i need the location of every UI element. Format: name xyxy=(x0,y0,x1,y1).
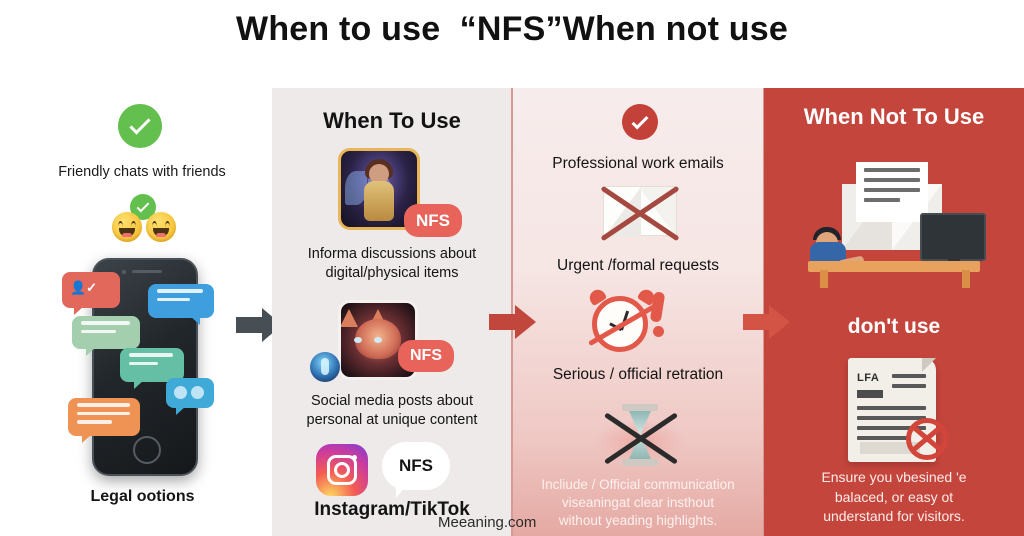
cross-out-icon xyxy=(598,405,684,467)
person-check-glyph: 👤✓ xyxy=(70,280,97,296)
when-to-use-caption-2: Social media posts about personal at uni… xyxy=(272,392,512,430)
phone-camera-dot xyxy=(122,270,126,274)
laughing-emoji-icon xyxy=(146,212,176,242)
check-tick xyxy=(129,113,150,134)
contact-bubble-icon: 👤✓ xyxy=(62,272,120,308)
monitor-icon xyxy=(920,213,986,261)
desk-leg xyxy=(962,270,970,288)
smiley-glyph xyxy=(191,386,204,399)
legal-options-caption: Legal ootions xyxy=(40,487,245,507)
green-check-icon xyxy=(118,104,162,148)
desk-surface xyxy=(808,261,980,272)
smiley-glyph xyxy=(174,386,187,399)
urgent-formal-requests-label: Urgent /formal requests xyxy=(512,257,764,275)
laughing-emoji-icon xyxy=(112,212,142,242)
dont-use-subheading: don't use xyxy=(764,315,1024,339)
character-torso xyxy=(364,181,394,221)
page-title: When to use “NFS”When not use xyxy=(0,10,1024,49)
instagram-icon xyxy=(316,444,368,496)
cross-out-icon xyxy=(584,292,662,352)
phone-speaker xyxy=(132,270,162,273)
desk-leg xyxy=(820,270,828,288)
blue-orb-icon xyxy=(310,352,340,382)
red-check-icon xyxy=(622,104,658,140)
when-not-to-use-heading: When Not To Use xyxy=(764,104,1024,130)
red-panel-footnote: Ensure you vbesined 'e balaced, or easy … xyxy=(768,468,1020,527)
message-bubble-green xyxy=(72,316,140,349)
watermark-label: Meeaning.com xyxy=(438,514,536,531)
person-at-desk-with-envelope-icon xyxy=(800,158,990,288)
document-sheet xyxy=(856,162,928,222)
nfs-speech-bubble: NFS xyxy=(382,442,450,490)
message-bubble-teal xyxy=(120,348,184,382)
serious-official-label: Serious / official retration xyxy=(512,366,764,384)
infographic-canvas: When to use “NFS”When not use Friendly c… xyxy=(0,0,1024,536)
professional-work-emails-label: Professional work emails xyxy=(512,155,764,173)
arrow-right-icon xyxy=(489,305,537,339)
phone-home-button xyxy=(133,436,161,464)
check-tick xyxy=(137,200,150,213)
friendly-chats-label: Friendly chats with friends xyxy=(22,163,262,181)
middle-panel-footnote: Incliude / Official communication visean… xyxy=(508,476,768,531)
nfs-badge: NFS xyxy=(404,204,462,237)
document-label: LFA xyxy=(857,372,879,384)
check-tick xyxy=(632,112,649,129)
emoji-message-bubble xyxy=(166,378,214,408)
fox-eye-right xyxy=(374,337,382,343)
cross-out-icon xyxy=(594,180,686,242)
nfs-badge: NFS xyxy=(398,340,454,372)
fox-ear-left xyxy=(340,309,358,327)
fox-eye-left xyxy=(354,337,362,343)
when-to-use-heading: When To Use xyxy=(272,108,512,134)
prohibited-sign-icon xyxy=(906,418,948,460)
message-bubble-blue xyxy=(148,284,214,318)
message-bubble-orange xyxy=(68,398,140,436)
when-to-use-caption-1: Informa discussions about digital/physic… xyxy=(272,245,512,283)
